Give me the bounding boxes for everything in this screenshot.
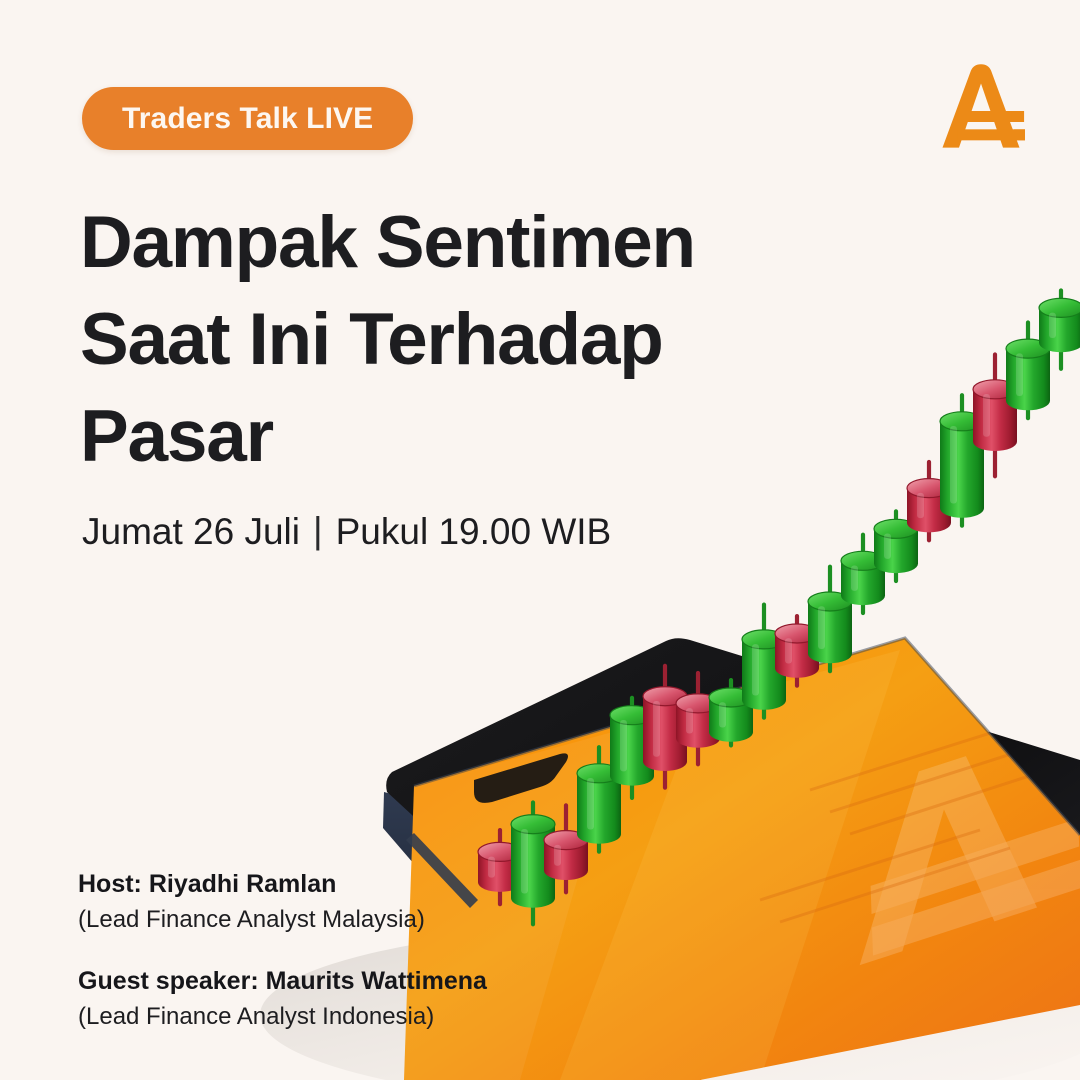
schedule-separator: | — [313, 512, 323, 549]
speaker-host: Host: Riyadhi Ramlan (Lead Finance Analy… — [78, 868, 487, 936]
speaker-guest: Guest speaker: Maurits Wattimena (Lead F… — [78, 965, 487, 1033]
page-title: Dampak Sentimen Saat Ini Terhadap Pasar — [80, 194, 820, 485]
poster-content: Traders Talk LIVE Dampak Sentimen Saat I… — [0, 0, 1080, 1080]
event-date: Jumat 26 Juli — [82, 513, 300, 550]
event-time: Pukul 19.00 WIB — [336, 513, 612, 550]
octa-a-logo-icon — [926, 56, 1036, 166]
speaker-name: Host: Riyadhi Ramlan — [78, 868, 487, 901]
headline-line-3: Pasar — [80, 388, 820, 485]
poster-canvas: Traders Talk LIVE Dampak Sentimen Saat I… — [0, 0, 1080, 1080]
headline-line-2: Saat Ini Terhadap — [80, 291, 820, 388]
speaker-role: (Lead Finance Analyst Indonesia) — [78, 1001, 487, 1033]
event-schedule: Jumat 26 Juli | Pukul 19.00 WIB — [82, 513, 611, 550]
headline-line-1: Dampak Sentimen — [80, 194, 820, 291]
badge-label: Traders Talk LIVE — [122, 104, 373, 134]
traders-talk-live-badge[interactable]: Traders Talk LIVE — [82, 87, 413, 150]
speakers-list: Host: Riyadhi Ramlan (Lead Finance Analy… — [78, 868, 487, 1034]
speaker-name: Guest speaker: Maurits Wattimena — [78, 965, 487, 998]
speaker-role: (Lead Finance Analyst Malaysia) — [78, 904, 487, 936]
